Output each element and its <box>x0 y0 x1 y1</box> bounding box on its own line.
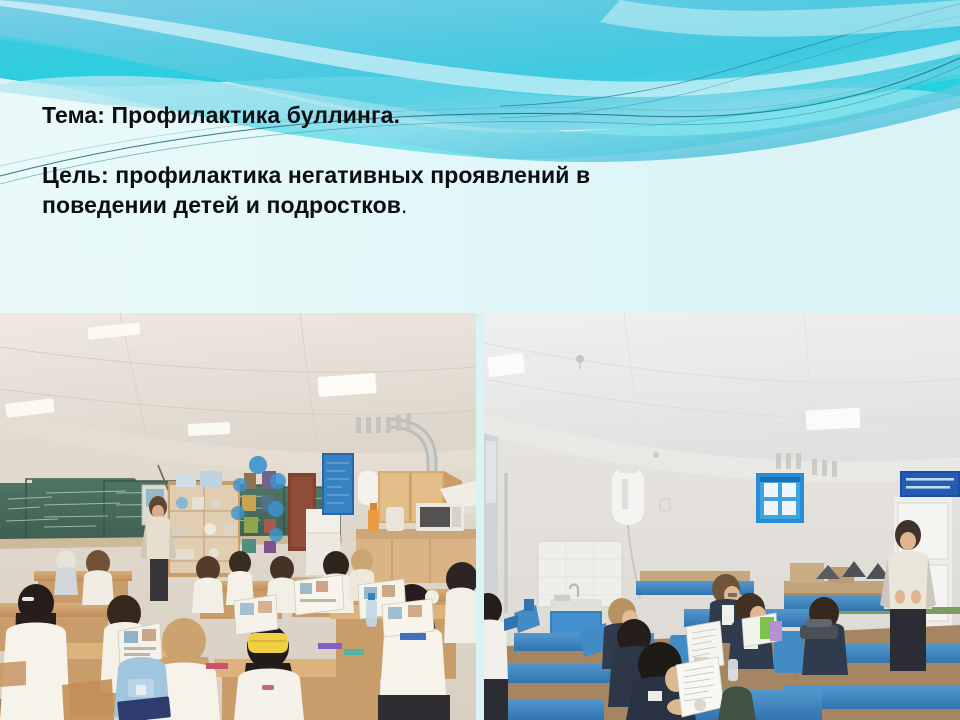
photo-classroom-workshop <box>484 313 960 720</box>
goal-line-2: поведении детей и подростков. <box>42 190 832 220</box>
photo-classroom-home-economics <box>0 313 476 720</box>
text-spacer <box>42 130 832 160</box>
goal-period: . <box>401 192 408 218</box>
topic-line: Тема: Профилактика буллинга. <box>42 100 832 130</box>
photo-gap <box>476 313 484 720</box>
goal-line-2-text: поведении детей и подростков <box>42 192 401 218</box>
slide-text-block: Тема: Профилактика буллинга. Цель: профи… <box>42 100 832 220</box>
slide-root: Тема: Профилактика буллинга. Цель: профи… <box>0 0 960 720</box>
photo-strip <box>0 313 960 720</box>
goal-line-1: Цель: профилактика негативных проявлений… <box>42 160 832 190</box>
